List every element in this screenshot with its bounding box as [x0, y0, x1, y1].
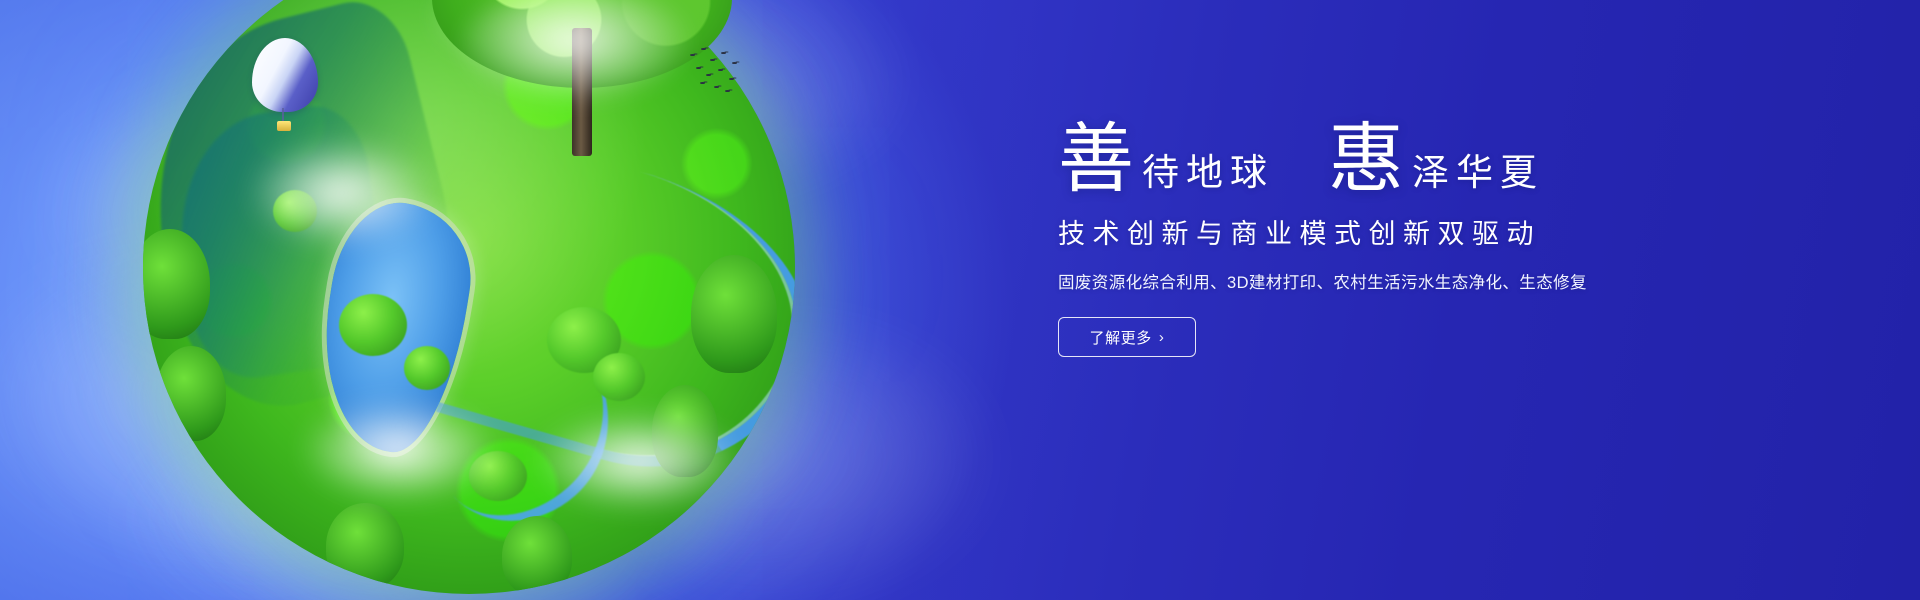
horizon-foliage-icon	[502, 516, 572, 594]
mist-icon	[460, 0, 695, 106]
hero-subtitle: 技术创新与商业模式创新双驱动	[1058, 212, 1758, 251]
hero-banner: 善 待地球 惠 泽华夏 技术创新与商业模式创新双驱动 固废资源化综合利用、3D建…	[0, 0, 1920, 600]
tree-icon	[432, 0, 732, 158]
headline-word-daidiqiu: 待地球	[1134, 155, 1274, 192]
headline-char-hui: 惠	[1328, 122, 1404, 198]
learn-more-button[interactable]: 了解更多 ›	[1058, 317, 1196, 357]
headline-word-zehuaxia: 泽华夏	[1404, 155, 1544, 192]
horizon-foliage-icon	[326, 503, 404, 589]
tree-clump-icon	[593, 353, 645, 401]
hero-description: 固废资源化综合利用、3D建材打印、农村生活污水生态净化、生态修复	[1058, 269, 1758, 293]
horizon-foliage-icon	[691, 255, 777, 373]
tree-clump-icon	[339, 294, 407, 356]
mist-icon	[299, 398, 499, 503]
horizon-foliage-icon	[156, 346, 226, 441]
balloon-rope	[282, 108, 284, 122]
mist-icon	[247, 138, 437, 248]
page-title: 善 待地球 惠 泽华夏	[1058, 120, 1758, 196]
tree-clump-icon	[404, 346, 450, 390]
headline-char-shan: 善	[1058, 122, 1134, 198]
balloon-envelope	[252, 38, 318, 112]
balloon-basket	[277, 121, 291, 131]
bird-flock-icon	[688, 48, 744, 94]
chevron-right-icon: ›	[1159, 330, 1165, 345]
hero-copy: 善 待地球 惠 泽华夏 技术创新与商业模式创新双驱动 固废资源化综合利用、3D建…	[1058, 120, 1758, 357]
hot-air-balloon-icon	[252, 38, 318, 132]
mist-icon	[534, 411, 744, 511]
learn-more-label: 了解更多	[1089, 327, 1151, 348]
